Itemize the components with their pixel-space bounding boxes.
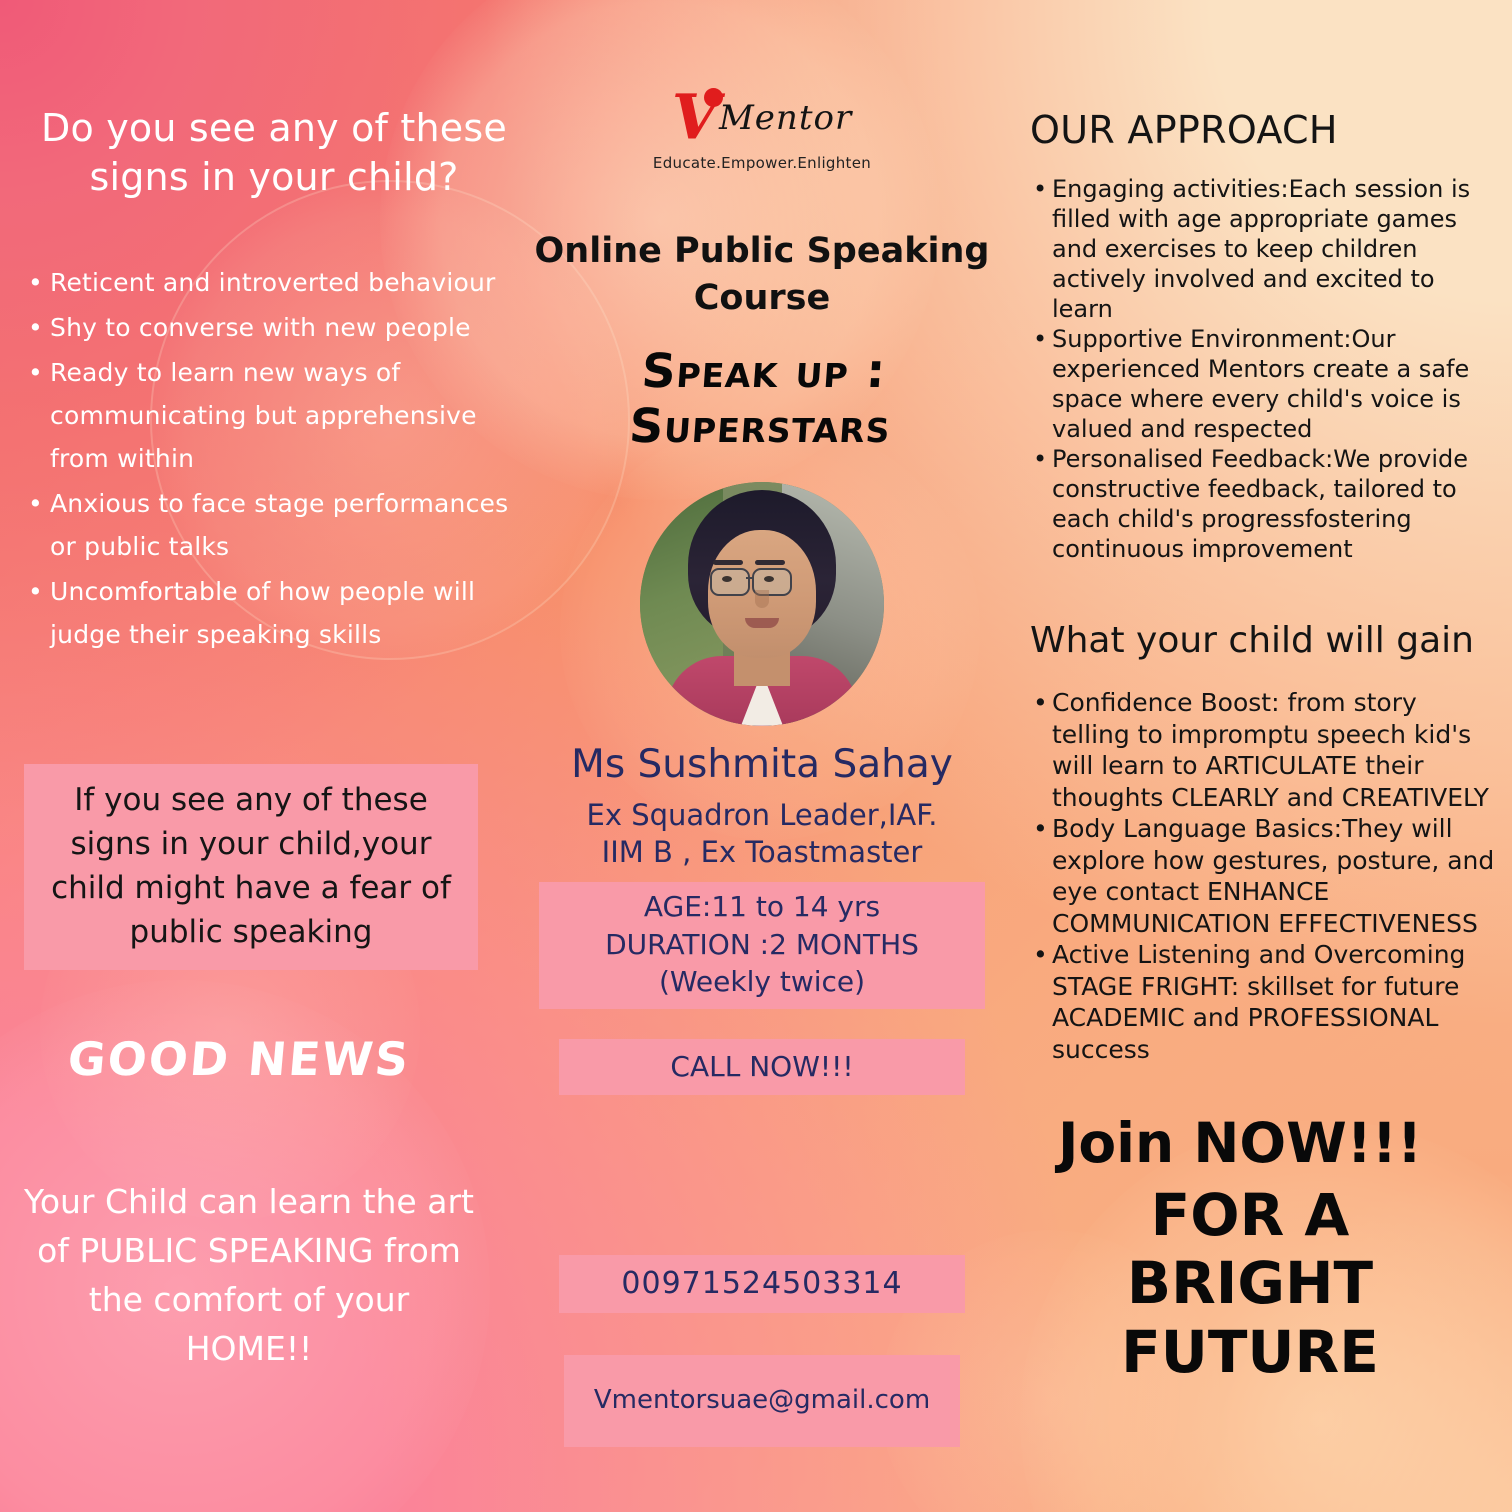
list-item: Active Listening and Overcoming STAGE FR… [1030, 939, 1500, 1065]
list-item: Shy to converse with new people [24, 306, 524, 349]
bright-future-cta: FOR A BRIGHT FUTURE [1030, 1181, 1470, 1386]
course-details-band: AGE:11 to 14 yrs DURATION :2 MONTHS (Wee… [539, 882, 985, 1009]
gain-list: Confidence Boost: from story telling to … [1030, 687, 1500, 1065]
portrait-eyebrow-right [755, 560, 785, 565]
fear-callout-box: If you see any of these signs in your ch… [24, 764, 478, 970]
credentials-line-2: IIM B , Ex Toastmaster [512, 834, 1012, 872]
logo-wordmark: Mentor [719, 98, 852, 138]
signs-list: Reticent and introverted behaviour Shy t… [24, 261, 524, 656]
course-title: Online Public Speaking Course [512, 228, 1012, 322]
list-item: Supportive Environment:Our experienced M… [1030, 324, 1500, 444]
left-column: Do you see any of these signs in your ch… [24, 0, 524, 1374]
brand-tagline: Educate.Empower.Enlighten [512, 154, 1012, 172]
our-approach-heading: OUR APPROACH [1030, 108, 1500, 152]
center-column: V Mentor Educate.Empower.Enlighten Onlin… [512, 0, 1012, 1447]
portrait-nose [755, 590, 769, 608]
portrait-eyebrow-left [713, 560, 743, 565]
call-now-button[interactable]: CALL NOW!!! [559, 1039, 965, 1095]
list-item: Ready to learn new ways of communicating… [24, 351, 524, 480]
portrait-eye-left [722, 576, 732, 582]
portrait-glasses-left [710, 568, 750, 596]
credentials-line-1: Ex Squadron Leader,IAF. [512, 797, 1012, 835]
left-closing-text: Your Child can learn the art of PUBLIC S… [24, 1178, 474, 1373]
right-column: OUR APPROACH Engaging activities:Each se… [1030, 0, 1500, 1386]
list-item: Confidence Boost: from story telling to … [1030, 687, 1500, 813]
brand-logo: V Mentor Educate.Empower.Enlighten [512, 86, 1012, 172]
detail-frequency: (Weekly twice) [547, 963, 977, 1001]
detail-age: AGE:11 to 14 yrs [547, 888, 977, 926]
email-address[interactable]: Vmentorsuae@gmail.com [564, 1355, 960, 1447]
list-item: Body Language Basics:They will explore h… [1030, 813, 1500, 939]
mentor-credentials: Ex Squadron Leader,IAF. IIM B , Ex Toast… [512, 797, 1012, 872]
logo-mark: V Mentor [672, 86, 852, 148]
detail-duration: DURATION :2 MONTHS [547, 926, 977, 964]
portrait-mouth [745, 618, 779, 628]
what-child-will-gain-heading: What your child will gain [1030, 620, 1500, 661]
poster-canvas: Do you see any of these signs in your ch… [0, 0, 1512, 1512]
portrait-glasses-bridge [746, 577, 754, 579]
mentor-portrait-photo [640, 482, 884, 726]
course-tagline: Speak up : Superstars [508, 344, 1016, 454]
logo-dot-icon [704, 88, 723, 107]
list-item: Anxious to face stage performances or pu… [24, 482, 524, 568]
phone-number[interactable]: 00971524503314 [559, 1255, 965, 1313]
list-item: Uncomfortable of how people will judge t… [24, 570, 524, 656]
list-item: Engaging activities:Each session is fill… [1030, 174, 1500, 324]
join-now-cta[interactable]: Join NOW!!! [1030, 1111, 1450, 1175]
list-item: Personalised Feedback:We provide constru… [1030, 444, 1500, 564]
good-news-heading: GOOD NEWS [22, 1032, 457, 1086]
signs-heading: Do you see any of these signs in your ch… [24, 104, 524, 201]
list-item: Reticent and introverted behaviour [24, 261, 524, 304]
portrait-eye-right [764, 576, 774, 582]
approach-list: Engaging activities:Each session is fill… [1030, 174, 1500, 564]
mentor-name: Ms Sushmita Sahay [512, 742, 1012, 787]
